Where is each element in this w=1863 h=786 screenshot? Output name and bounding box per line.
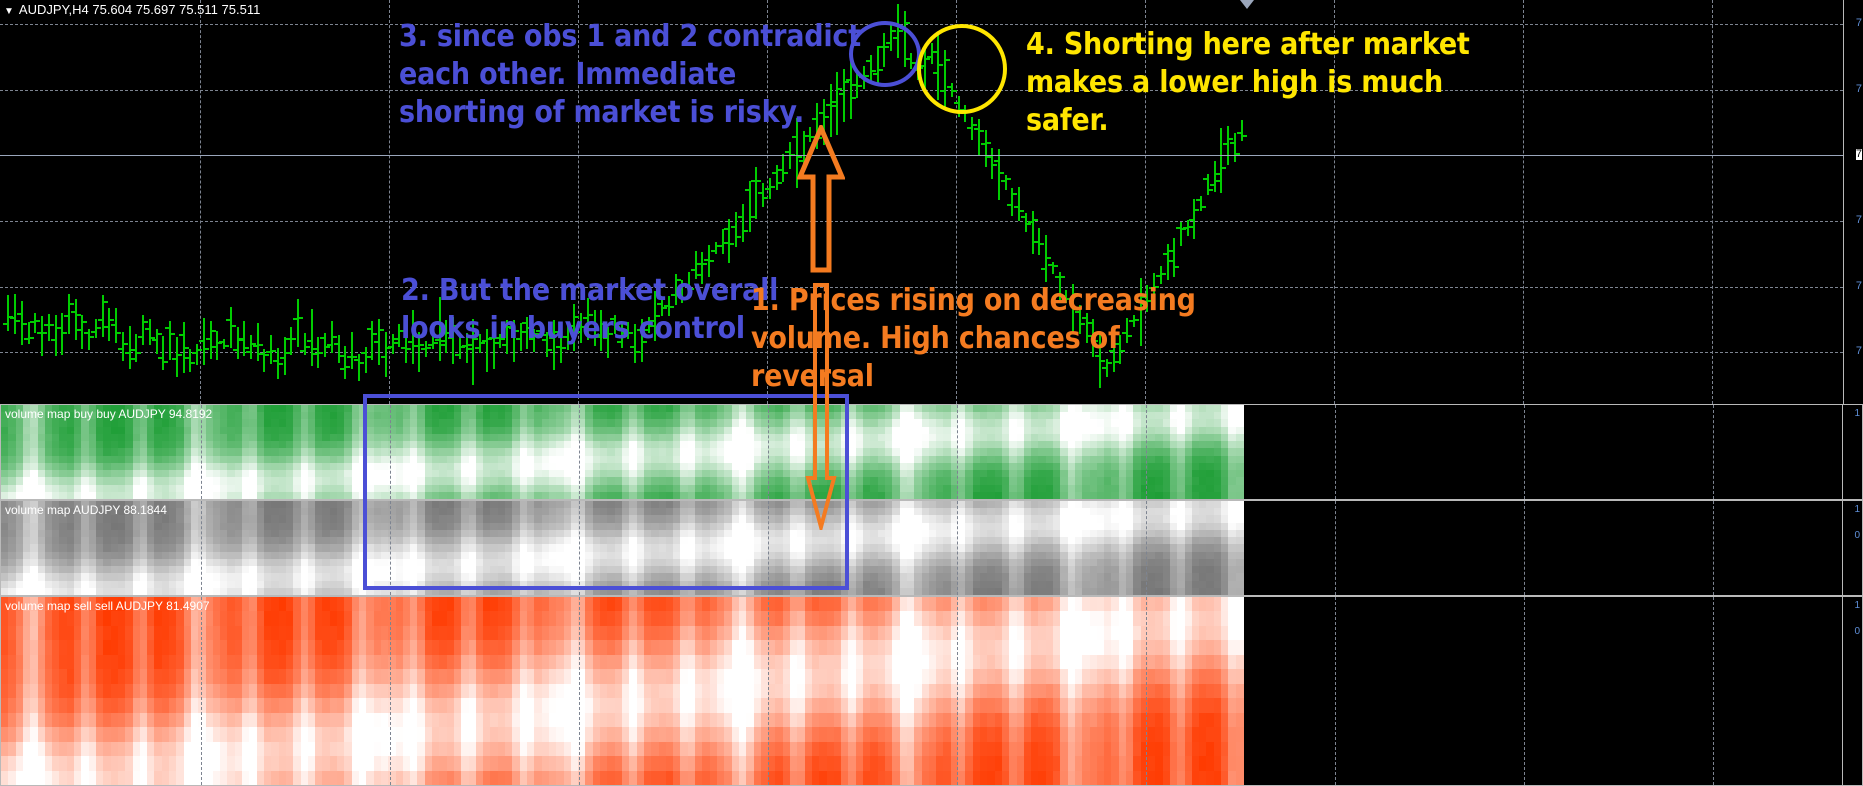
- price-bar-close-tick: [1000, 172, 1004, 174]
- price-bar-close-tick: [97, 327, 101, 329]
- price-bar-open-tick: [84, 332, 88, 334]
- buy-axis-tick-1: 1: [1854, 409, 1860, 419]
- price-bar-open-tick: [125, 352, 129, 354]
- price-bar: [998, 149, 1000, 200]
- price-axis-label-4: 7: [1856, 281, 1862, 292]
- price-bar-close-tick: [1034, 219, 1038, 221]
- price-bar-close-tick: [744, 230, 748, 232]
- price-bar: [971, 117, 973, 140]
- price-bar-close-tick: [784, 172, 788, 174]
- price-bar: [297, 299, 299, 347]
- price-bar-open-tick: [91, 331, 95, 333]
- gridline-horizontal-3: [0, 221, 1863, 222]
- current-price-line: [0, 155, 1844, 156]
- price-bar-close-tick: [63, 332, 67, 334]
- price-bar-open-tick: [77, 329, 81, 331]
- price-bar-open-tick: [179, 334, 183, 336]
- price-bar-open-tick: [307, 340, 311, 342]
- price-bar-open-tick: [266, 351, 270, 353]
- price-bar-open-tick: [981, 143, 985, 145]
- price-bar-close-tick: [16, 320, 20, 322]
- price-bar-close-tick: [1013, 193, 1017, 195]
- price-bar: [1193, 199, 1195, 239]
- price-bar-close-tick: [771, 186, 775, 188]
- price-bar-open-tick: [724, 228, 728, 230]
- price-bar-open-tick: [785, 151, 789, 153]
- price-bar-open-tick: [226, 319, 230, 321]
- price-bar: [122, 332, 124, 361]
- price-bar: [237, 327, 239, 359]
- price-bar-close-tick: [319, 352, 323, 354]
- price-bar-open-tick: [138, 336, 142, 338]
- price-bar-open-tick: [1014, 206, 1018, 208]
- price-bar-close-tick: [225, 345, 229, 347]
- buy-heat-cell: [1236, 448, 1244, 455]
- buy-heat-cell: [1236, 456, 1244, 463]
- price-bar-open-tick: [361, 352, 365, 354]
- price-bar-open-tick: [334, 343, 338, 345]
- price-bar-open-tick: [3, 323, 7, 325]
- price-bar-open-tick: [118, 348, 122, 350]
- price-bar: [978, 119, 980, 155]
- price-bar-open-tick: [233, 349, 237, 351]
- price-bar-open-tick: [758, 192, 762, 194]
- gridline-vertical-6: [1335, 405, 1336, 499]
- price-bar-close-tick: [407, 348, 411, 350]
- price-bar-close-tick: [710, 260, 714, 262]
- price-bar-close-tick: [83, 321, 87, 323]
- price-bar: [223, 339, 225, 349]
- price-bar: [230, 307, 232, 348]
- price-bar-open-tick: [738, 216, 742, 218]
- price-bar-open-tick: [1055, 276, 1059, 278]
- price-bar-open-tick: [1210, 184, 1214, 186]
- price-bar: [162, 336, 164, 370]
- price-bar-open-tick: [185, 357, 189, 359]
- price-bar-close-tick: [205, 348, 209, 350]
- price-bar: [728, 219, 730, 263]
- price-bar: [115, 308, 117, 343]
- price-bar-open-tick: [994, 160, 998, 162]
- price-bar: [1052, 262, 1054, 274]
- price-bar-open-tick: [1176, 227, 1180, 229]
- price-bar-close-tick: [346, 366, 350, 368]
- price-bar-open-tick: [751, 180, 755, 182]
- price-bar-close-tick: [43, 332, 47, 334]
- price-bar: [108, 308, 110, 341]
- price-bar-open-tick: [111, 324, 115, 326]
- price-bar-open-tick: [987, 156, 991, 158]
- price-bar: [189, 349, 191, 372]
- price-bar-close-tick: [326, 346, 330, 348]
- buy-heat-cell: [1236, 427, 1244, 434]
- price-bar-close-tick: [1202, 206, 1206, 208]
- price-bar: [1187, 220, 1189, 236]
- buy-heat-cell: [1236, 441, 1244, 448]
- price-bar-open-tick: [172, 358, 176, 360]
- price-bar-open-tick: [388, 346, 392, 348]
- price-bar-close-tick: [778, 182, 782, 184]
- price-bar-open-tick: [300, 350, 304, 352]
- price-bar-close-tick: [272, 350, 276, 352]
- buy-panel-axis[interactable]: 1: [1842, 405, 1862, 499]
- buy-heat-cell: [1236, 434, 1244, 441]
- price-bar-close-tick: [104, 301, 108, 303]
- price-bar: [28, 322, 30, 344]
- price-bar: [782, 154, 784, 182]
- chart-symbol-header: ▼AUDJPY,H4 75.604 75.697 75.511 75.511: [4, 2, 260, 19]
- gridline-vertical-0: [200, 0, 201, 404]
- price-bar-open-tick: [145, 328, 149, 330]
- volume-map-buy-panel[interactable]: volume map buy buy AUDJPY 94.8192 1: [0, 404, 1863, 500]
- price-bar-open-tick: [239, 338, 243, 340]
- price-bar-open-tick: [293, 318, 297, 320]
- price-bar-open-tick: [1034, 241, 1038, 243]
- price-bar: [304, 333, 306, 355]
- price-bar-open-tick: [206, 338, 210, 340]
- price-bar-open-tick: [394, 338, 398, 340]
- price-bar-close-tick: [703, 263, 707, 265]
- price-bar-close-tick: [1209, 189, 1213, 191]
- price-bar-open-tick: [51, 339, 55, 341]
- price-bar: [742, 204, 744, 242]
- price-bar-close-tick: [30, 337, 34, 339]
- price-bar-close-tick: [110, 319, 114, 321]
- buy-heat-cell: [1236, 470, 1244, 477]
- price-bar-close-tick: [306, 346, 310, 348]
- price-bar-open-tick: [71, 311, 75, 313]
- price-bar: [371, 321, 373, 360]
- buy-heat-cell: [1236, 492, 1244, 499]
- price-bar-open-tick: [354, 359, 358, 361]
- price-bar: [344, 346, 346, 379]
- price-bar-open-tick: [17, 313, 21, 315]
- buy-heat-cell: [1236, 477, 1244, 484]
- price-bar-close-tick: [265, 354, 269, 356]
- price-bar-open-tick: [772, 172, 776, 174]
- price-bar: [203, 318, 205, 365]
- price-bar-close-tick: [158, 333, 162, 335]
- chevron-down-icon[interactable]: ▼: [4, 4, 14, 19]
- price-bar: [715, 242, 717, 254]
- gridline-vertical-7: [1524, 405, 1525, 499]
- price-bar-close-tick: [259, 344, 263, 346]
- price-bar-close-tick: [1047, 257, 1051, 259]
- price-bar-open-tick: [1169, 260, 1173, 262]
- price-bar-open-tick: [1048, 264, 1052, 266]
- price-bar: [176, 337, 178, 377]
- price-bar: [365, 347, 367, 373]
- price-bar-close-tick: [987, 142, 991, 144]
- price-bar-open-tick: [1028, 221, 1032, 223]
- price-bar-close-tick: [144, 321, 148, 323]
- price-bar-open-tick: [421, 348, 425, 350]
- price-bar: [142, 315, 144, 345]
- price-bar-close-tick: [279, 363, 283, 365]
- price-bar-close-tick: [906, 22, 910, 24]
- price-axis-label-5: 7: [1856, 346, 1862, 357]
- price-bar: [378, 319, 380, 365]
- buy-heat-cell: [1236, 405, 1244, 412]
- price-axis[interactable]: 777777: [1843, 0, 1863, 404]
- price-bar-open-tick: [745, 189, 749, 191]
- price-bar-open-tick: [64, 315, 68, 317]
- price-bar: [755, 167, 757, 219]
- price-bar-open-tick: [711, 250, 715, 252]
- price-bar: [88, 329, 90, 350]
- price-bar-open-tick: [1163, 253, 1167, 255]
- price-bar-open-tick: [1156, 275, 1160, 277]
- price-bar: [398, 324, 400, 347]
- price-bar: [41, 316, 43, 356]
- price-bar-open-tick: [374, 341, 378, 343]
- price-bar: [1038, 228, 1040, 255]
- trading-terminal-chart-window: 777777 ▼AUDJPY,H4 75.604 75.697 75.511 7…: [0, 0, 1863, 786]
- price-bar-close-tick: [757, 180, 761, 182]
- price-bar-open-tick: [327, 344, 331, 346]
- price-bar-close-tick: [164, 361, 168, 363]
- buy-heat-cell: [1236, 412, 1244, 419]
- price-bar-open-tick: [57, 327, 61, 329]
- price-bar-close-tick: [90, 336, 94, 338]
- price-bar-open-tick: [212, 346, 216, 348]
- price-bar-close-tick: [1061, 276, 1065, 278]
- price-bar: [257, 323, 259, 361]
- price-bar-open-tick: [1007, 204, 1011, 206]
- price-bar: [985, 130, 987, 167]
- price-bar-open-tick: [1196, 199, 1200, 201]
- price-bar-open-tick: [24, 338, 28, 340]
- price-bar: [216, 331, 218, 360]
- price-bar-open-tick: [192, 352, 196, 354]
- price-bar: [7, 295, 9, 331]
- price-bar-open-tick: [1223, 143, 1227, 145]
- price-bar-open-tick: [1041, 268, 1045, 270]
- gridline-vertical-7: [1523, 0, 1524, 404]
- price-bar-close-tick: [171, 333, 175, 335]
- volume-map-buy-label: volume map buy buy AUDJPY 94.8192: [5, 407, 212, 421]
- price-bar-close-tick: [360, 362, 364, 364]
- price-bar-close-tick: [973, 124, 977, 126]
- price-bar-close-tick: [23, 323, 27, 325]
- price-bar-open-tick: [165, 327, 169, 329]
- volume-map-neutral-panel[interactable]: volume map AUDJPY 88.1844 1 0: [0, 500, 1863, 596]
- price-bar-close-tick: [1040, 243, 1044, 245]
- price-bar: [358, 354, 360, 381]
- price-bar-open-tick: [37, 332, 41, 334]
- price-bar-close-tick: [1162, 273, 1166, 275]
- price-bar: [196, 344, 198, 365]
- price-bar-open-tick: [1189, 219, 1193, 221]
- gridline-horizontal-0: [0, 24, 1863, 25]
- price-bar: [34, 313, 36, 333]
- price-bar-open-tick: [259, 353, 263, 355]
- price-bar-close-tick: [299, 317, 303, 319]
- price-bar-close-tick: [1222, 167, 1226, 169]
- price-bar-close-tick: [1027, 223, 1031, 225]
- price-bar-open-tick: [320, 337, 324, 339]
- price-bar-open-tick: [104, 326, 108, 328]
- price-axis-label-0: 7: [1856, 18, 1862, 29]
- price-bar-open-tick: [280, 357, 284, 359]
- price-bar: [75, 299, 77, 340]
- price-bar-open-tick: [1021, 216, 1025, 218]
- price-bar: [338, 335, 340, 363]
- price-axis-label-2: 7: [1856, 149, 1862, 160]
- price-bar-close-tick: [353, 356, 357, 358]
- price-axis-label-1: 7: [1856, 84, 1862, 95]
- price-bar: [1018, 187, 1020, 221]
- price-bar: [392, 334, 394, 354]
- price-bar-close-tick: [980, 130, 984, 132]
- price-bar: [14, 294, 16, 334]
- price-bar-open-tick: [273, 360, 277, 362]
- price-bar-close-tick: [191, 362, 195, 364]
- price-bar-open-tick: [30, 321, 34, 323]
- price-bar: [1207, 174, 1209, 195]
- price-axis-label-3: 7: [1856, 215, 1862, 226]
- price-bar-open-tick: [152, 339, 156, 341]
- price-bar: [351, 332, 353, 369]
- price-bar-close-tick: [993, 164, 997, 166]
- gridline-vertical-1: [389, 0, 390, 404]
- price-bar-open-tick: [44, 324, 48, 326]
- price-bar-open-tick: [1230, 142, 1234, 144]
- price-bar-close-tick: [380, 329, 384, 331]
- price-bar: [169, 321, 171, 360]
- gridline-vertical-8: [1713, 405, 1714, 499]
- price-bar: [284, 337, 286, 375]
- symbol-ohlc-label: AUDJPY,H4 75.604 75.697 75.511 75.511: [19, 2, 260, 17]
- price-bar-open-tick: [158, 357, 162, 359]
- price-bar-close-tick: [117, 332, 121, 334]
- price-bar-close-tick: [737, 236, 741, 238]
- price-bar-open-tick: [792, 136, 796, 138]
- price-bar: [263, 349, 265, 372]
- price-bar-open-tick: [340, 368, 344, 370]
- price-bar: [311, 309, 313, 366]
- price-bar-close-tick: [292, 338, 296, 340]
- buy-heat-cell: [1236, 419, 1244, 426]
- price-bar-close-tick: [70, 303, 74, 305]
- price-bar-close-tick: [1007, 178, 1011, 180]
- price-bar-open-tick: [967, 127, 971, 129]
- price-bar: [250, 335, 252, 359]
- price-bar-open-tick: [347, 356, 351, 358]
- price-bar-open-tick: [381, 356, 385, 358]
- price-bar-close-tick: [137, 352, 141, 354]
- price-bar: [48, 314, 50, 341]
- price-bar-close-tick: [764, 197, 768, 199]
- price-bar-close-tick: [548, 349, 552, 351]
- price-bar-open-tick: [246, 351, 250, 353]
- price-bar-close-tick: [730, 243, 734, 245]
- price-bar-open-tick: [367, 328, 371, 330]
- price-bar-open-tick: [131, 349, 135, 351]
- price-bar-close-tick: [36, 320, 40, 322]
- price-bar: [762, 183, 764, 207]
- price-bar-open-tick: [765, 188, 769, 190]
- price-bar-open-tick: [1216, 173, 1220, 175]
- price-bar: [135, 334, 137, 362]
- gridline-vertical-8: [1712, 0, 1713, 404]
- price-bar: [1173, 238, 1175, 277]
- price-bar-close-tick: [333, 336, 337, 338]
- price-bar-close-tick: [245, 347, 249, 349]
- price-bar: [735, 212, 737, 247]
- price-bar-open-tick: [10, 317, 14, 319]
- price-bar: [243, 321, 245, 356]
- price-bar-open-tick: [704, 259, 708, 261]
- price-bar-open-tick: [731, 226, 735, 228]
- price-bar-close-tick: [1020, 210, 1024, 212]
- price-bar-close-tick: [373, 333, 377, 335]
- price-bar-close-tick: [1195, 209, 1199, 211]
- buy-heat-column: [1236, 405, 1244, 499]
- price-bar: [769, 178, 771, 199]
- price-bar: [149, 319, 151, 345]
- chart-position-marker-icon: [1240, 0, 1254, 9]
- price-bar-open-tick: [455, 354, 459, 356]
- price-bar-open-tick: [974, 128, 978, 130]
- buy-heat-cell: [1236, 485, 1244, 492]
- price-bar-close-tick: [124, 343, 128, 345]
- price-bar-open-tick: [199, 340, 203, 342]
- price-bar-open-tick: [98, 319, 102, 321]
- price-bar-open-tick: [313, 353, 317, 355]
- price-bar: [1032, 211, 1034, 254]
- price-bar-open-tick: [691, 269, 695, 271]
- price-bar-close-tick: [232, 325, 236, 327]
- price-bar-close-tick: [178, 354, 182, 356]
- price-bar-close-tick: [50, 324, 54, 326]
- price-bar-close-tick: [1175, 266, 1179, 268]
- price-bar: [55, 315, 57, 356]
- price-bar: [749, 181, 751, 232]
- price-bar-open-tick: [778, 169, 782, 171]
- price-bar: [1180, 222, 1182, 246]
- price-bar: [129, 326, 131, 369]
- price-bar: [68, 294, 70, 334]
- price-bar: [290, 327, 292, 355]
- price-bar-open-tick: [219, 341, 223, 343]
- buy-heat-cell: [1236, 463, 1244, 470]
- price-bar-open-tick: [718, 245, 722, 247]
- price-bar: [385, 332, 387, 377]
- price-bar-open-tick: [286, 338, 290, 340]
- price-bar: [324, 333, 326, 357]
- price-bar-open-tick: [253, 345, 257, 347]
- price-bar-close-tick: [198, 349, 202, 351]
- price-bar-open-tick: [1203, 178, 1207, 180]
- price-bar-open-tick: [1183, 227, 1187, 229]
- price-bar: [210, 321, 212, 359]
- price-bar: [61, 313, 63, 355]
- price-bar: [1214, 161, 1216, 192]
- price-bar: [1200, 196, 1202, 211]
- price-bar-close-tick: [636, 351, 640, 353]
- price-bar-open-tick: [1001, 180, 1005, 182]
- price-bar-close-tick: [1054, 265, 1058, 267]
